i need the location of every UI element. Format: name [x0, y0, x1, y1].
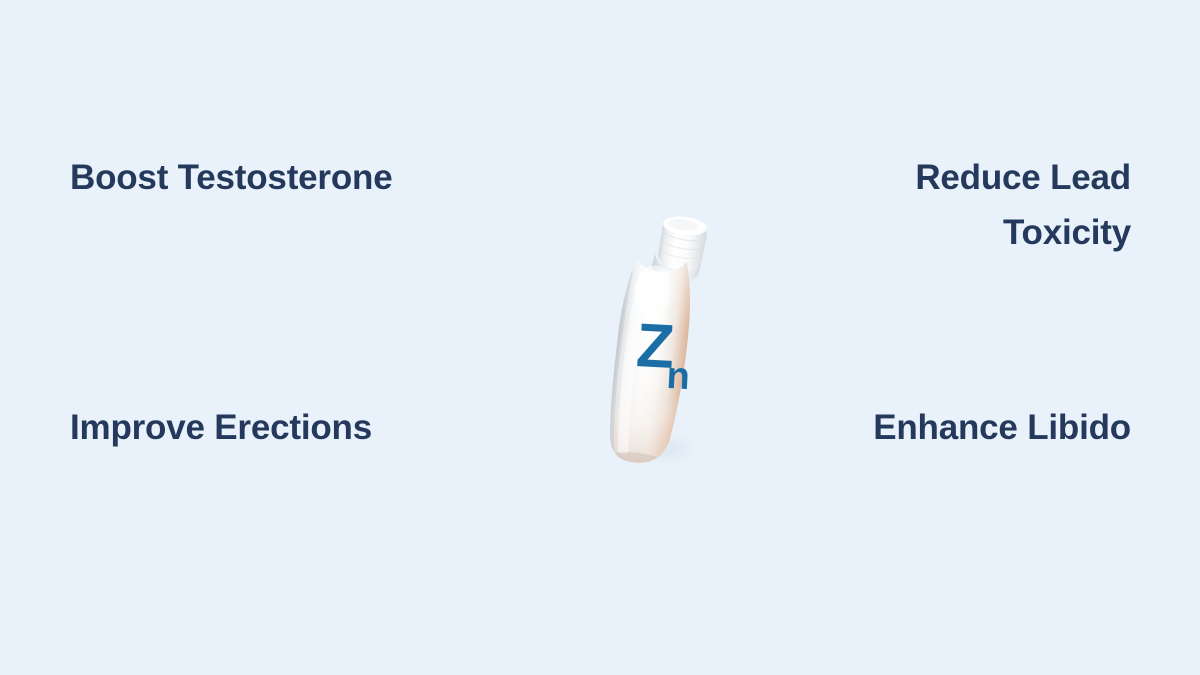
svg-text:n: n [666, 355, 691, 398]
benefit-label-boost-testosterone: Boost Testosterone [70, 150, 392, 205]
product-image-zinc-bottle: Z n [598, 196, 708, 486]
benefit-label-improve-erections: Improve Erections [70, 400, 372, 455]
benefit-label-enhance-libido: Enhance Libido [873, 400, 1131, 455]
infographic-canvas: Boost Testosterone Reduce Lead Toxicity … [0, 0, 1200, 675]
benefit-label-reduce-lead-toxicity: Reduce Lead Toxicity [915, 150, 1131, 260]
bottle-cap [657, 214, 708, 273]
zinc-bottle-illustration: Z n [598, 196, 708, 486]
